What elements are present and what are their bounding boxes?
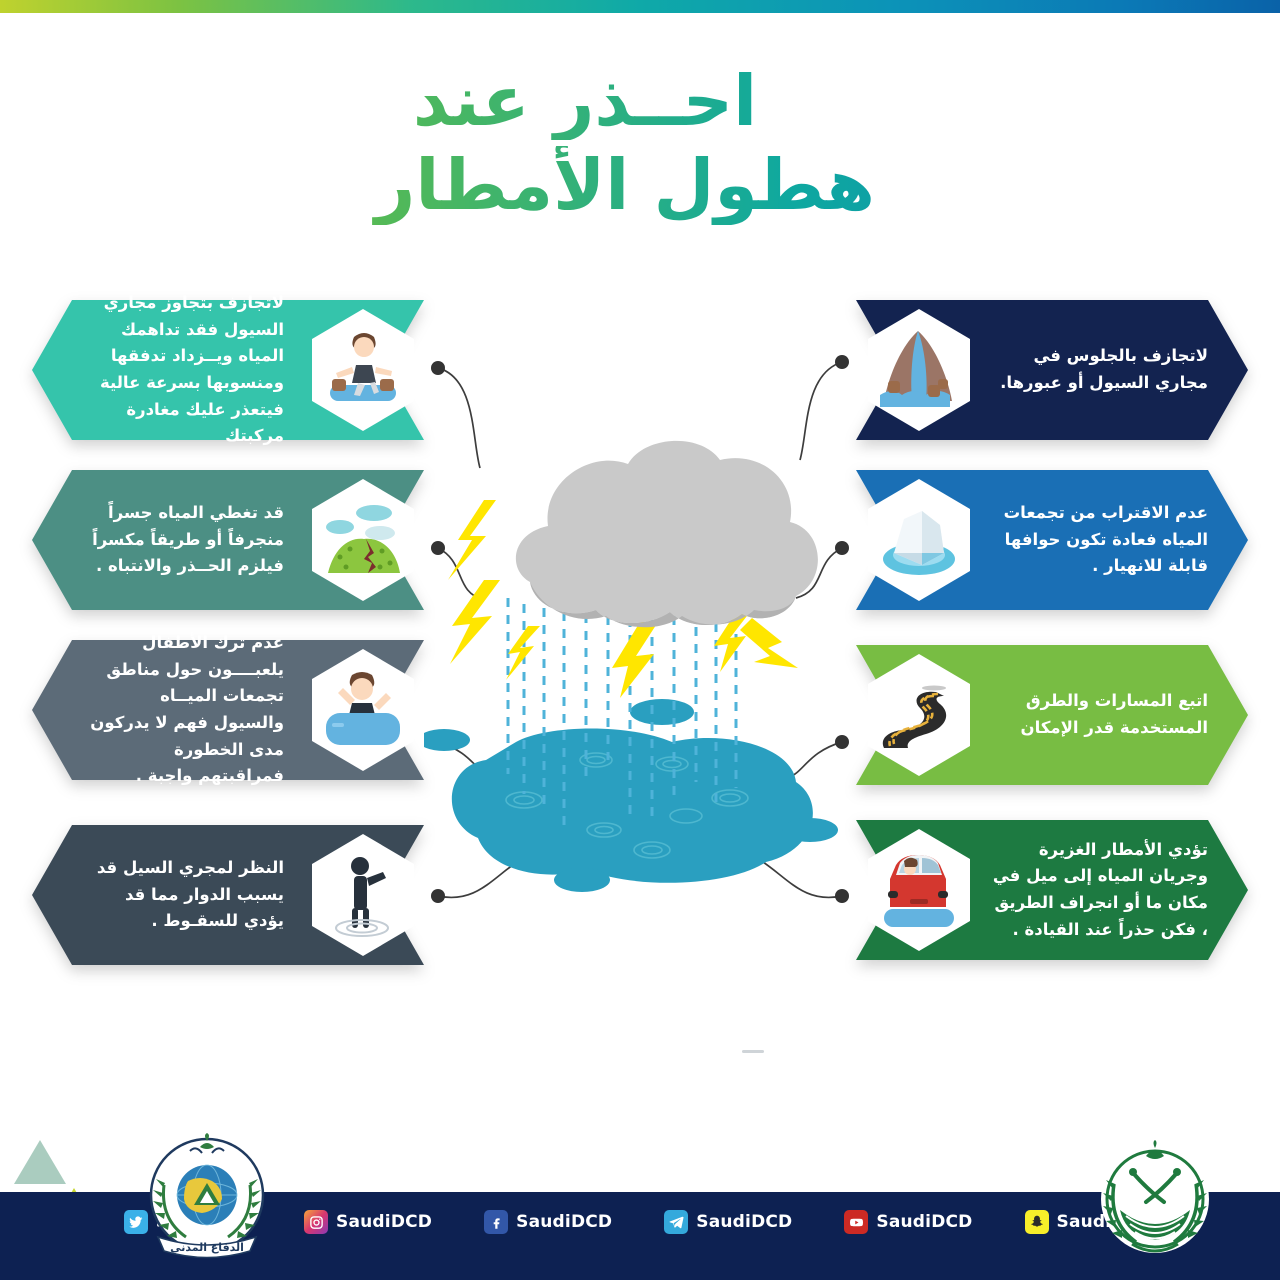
child-in-water-icon (308, 647, 418, 773)
waterfall-rocks-icon (864, 307, 974, 433)
card-text: لاتجازف بالجلوس في مجاري السيول أو عبوره… (974, 343, 1248, 396)
social-link-telegram[interactable]: SaudiDCD (664, 1210, 792, 1234)
social-handle: SaudiDCD (336, 1212, 432, 1232)
cloud-shape (516, 441, 818, 627)
social-handle: SaudiDCD (516, 1212, 612, 1232)
card-text: النظر لمجري السيل قد يسبب الدوار مما قد … (32, 855, 308, 935)
social-link-facebook[interactable]: SaudiDCD (484, 1210, 612, 1234)
logo-caption: الدفاع المدني (170, 1241, 244, 1254)
landslide-hill-icon (308, 477, 418, 603)
youtube-icon (844, 1210, 868, 1234)
social-link-youtube[interactable]: SaudiDCD (844, 1210, 972, 1234)
card-no-sitting-crossing[interactable]: لاتجازف بالجلوس في مجاري السيول أو عبوره… (856, 300, 1248, 440)
card-text: عدم ترك الأطفال يلعبــــون حول مناطق تجم… (32, 630, 308, 790)
storm-cloud-illustration (424, 430, 844, 900)
eroding-bank-icon (864, 477, 974, 603)
boy-on-flooded-road-icon (308, 307, 418, 433)
brand-gradient-bar (0, 0, 1280, 13)
saudi-civil-defense-logo: الدفاع المدني (138, 1133, 276, 1265)
card-text: تؤدي الأمطار الغزيرة وجريان المياه إلى م… (974, 837, 1248, 944)
card-text: قد تغطي المياه جسراً منجرفاً أو طريقاً م… (32, 500, 308, 580)
card-drive-carefully[interactable]: تؤدي الأمطار الغزيرة وجريان المياه إلى م… (856, 820, 1248, 960)
card-text: لاتجازف بتجاوز مجاري السيول فقد تداهمك ا… (32, 290, 308, 450)
card-children-supervision[interactable]: عدم ترك الأطفال يلعبــــون حول مناطق تجم… (32, 640, 424, 780)
card-flood-crossing[interactable]: لاتجازف بتجاوز مجاري السيول فقد تداهمك ا… (32, 300, 424, 440)
ministry-of-interior-logo (1094, 1138, 1216, 1260)
facebook-icon (484, 1210, 508, 1234)
card-text: اتبع المسارات والطرق المستخدمة قدر الإمك… (974, 688, 1248, 741)
social-handle: SaudiDCD (876, 1212, 972, 1232)
page-title: احــذر عند هطول الأمطار (0, 62, 1280, 225)
instagram-icon (304, 1210, 328, 1234)
snapchat-icon (1025, 1210, 1049, 1234)
page-title-line-2: هطول الأمطار (0, 146, 1280, 224)
social-handle: SaudiDCD (696, 1212, 792, 1232)
person-looking-down-icon (308, 832, 418, 958)
telegram-icon (664, 1210, 688, 1234)
page-title-line-1: احــذر عند (0, 62, 1280, 140)
decor-dash (742, 1050, 764, 1053)
social-link-instagram[interactable]: SaudiDCD (304, 1210, 432, 1234)
card-avoid-water-edges[interactable]: عدم الاقتراب من تجمعات المياه فعادة تكون… (856, 470, 1248, 610)
winding-road-icon (864, 652, 974, 778)
card-dizziness-falling[interactable]: النظر لمجري السيل قد يسبب الدوار مما قد … (32, 825, 424, 965)
red-car-in-water-icon (864, 827, 974, 953)
infographic-canvas: احــذر عند هطول الأمطار (0, 0, 1280, 1280)
card-text: عدم الاقتراب من تجمعات المياه فعادة تكون… (974, 500, 1248, 580)
card-washed-bridge[interactable]: قد تغطي المياه جسراً منجرفاً أو طريقاً م… (32, 470, 424, 610)
card-use-known-roads[interactable]: اتبع المسارات والطرق المستخدمة قدر الإمك… (856, 645, 1248, 785)
